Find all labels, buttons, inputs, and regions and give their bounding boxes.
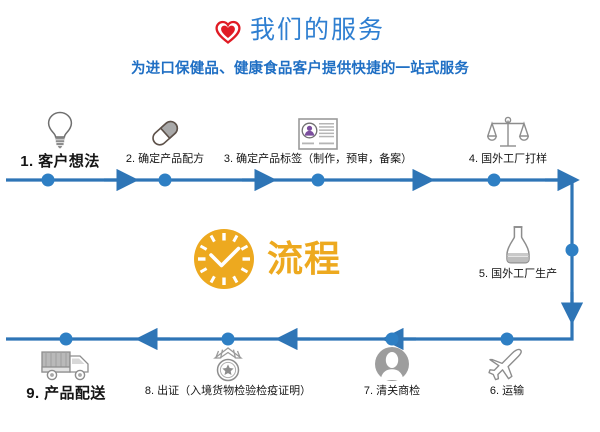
step-2-label: 2. 确定产品配方 bbox=[126, 154, 204, 165]
step-1[interactable]: 1. 客户想法 bbox=[0, 110, 120, 170]
step-5-label: 5. 国外工厂生产 bbox=[479, 269, 557, 280]
center-logo: 流程 bbox=[193, 228, 341, 290]
step-1-label: 1. 客户想法 bbox=[20, 154, 99, 169]
step-7[interactable]: 7. 清关商检 bbox=[332, 346, 452, 406]
center-logo-label: 流程 bbox=[267, 241, 341, 277]
step-2[interactable]: 2. 确定产品配方 bbox=[105, 110, 225, 170]
step-6[interactable]: 6. 运输 bbox=[450, 348, 564, 408]
step-8-label: 8. 出证（入境货物检验检疫证明） bbox=[145, 386, 311, 397]
truck-icon bbox=[40, 344, 92, 382]
capsule-icon bbox=[148, 114, 182, 150]
airplane-icon bbox=[487, 348, 527, 382]
person-badge-icon bbox=[374, 346, 410, 382]
flask-icon bbox=[503, 225, 533, 265]
step-9-label: 9. 产品配送 bbox=[26, 386, 105, 401]
medal-icon bbox=[209, 346, 247, 382]
step-3-label: 3. 确定产品标签（制作，预审，备案） bbox=[224, 154, 412, 165]
infographic-canvas: 我们的服务 为进口保健品、健康食品客户提供快捷的一站式服务 bbox=[0, 0, 600, 432]
step-9[interactable]: 9. 产品配送 bbox=[6, 344, 126, 404]
step-7-label: 7. 清关商检 bbox=[364, 386, 420, 397]
step-5[interactable]: 5. 国外工厂生产 bbox=[448, 225, 588, 285]
id-label-icon bbox=[298, 113, 338, 150]
step-6-label: 6. 运输 bbox=[490, 386, 524, 397]
step-3[interactable]: 3. 确定产品标签（制作，预审，备案） bbox=[228, 110, 408, 170]
lightbulb-icon bbox=[45, 110, 75, 150]
step-4-label: 4. 国外工厂打样 bbox=[469, 154, 547, 165]
clock-icon bbox=[193, 228, 255, 290]
step-8[interactable]: 8. 出证（入境货物检验检疫证明） bbox=[130, 346, 326, 406]
scales-icon bbox=[487, 114, 529, 150]
step-4[interactable]: 4. 国外工厂打样 bbox=[438, 110, 578, 170]
